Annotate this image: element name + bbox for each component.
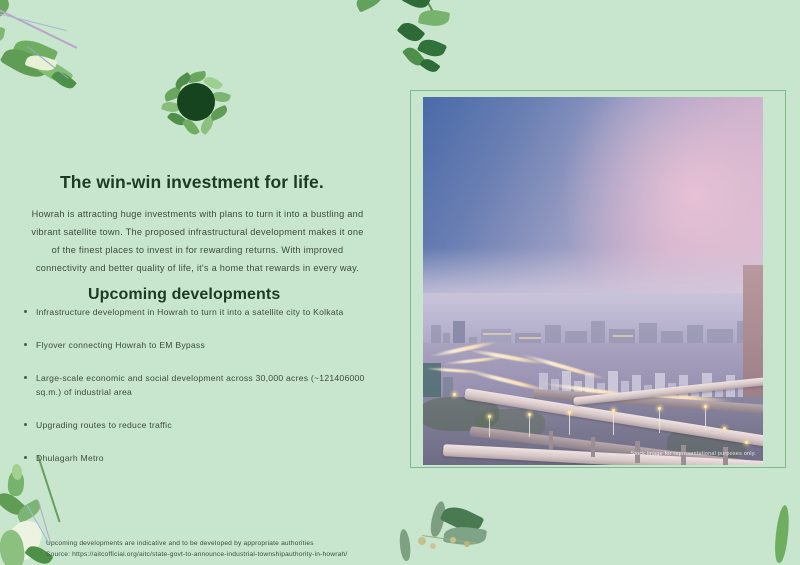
slide-canvas: The win-win investment for life. Howrah … xyxy=(0,0,800,565)
list-item-label: Infrastructure development in Howrah to … xyxy=(36,307,344,317)
bullet-icon xyxy=(24,456,27,459)
list-item: Infrastructure development in Howrah to … xyxy=(18,305,398,319)
list-item-label: Large-scale economic and social developm… xyxy=(36,373,365,397)
photo-frame: Stock image for representational purpose… xyxy=(410,90,786,468)
upcoming-developments-list: Infrastructure development in Howrah to … xyxy=(18,305,398,484)
footer-disclaimer: Upcoming developments are indicative and… xyxy=(46,538,526,549)
footer-notes: Upcoming developments are indicative and… xyxy=(46,538,526,560)
bullet-icon xyxy=(24,423,27,426)
decor-leaf-bottom-right xyxy=(770,505,800,565)
intro-paragraph: Howrah is attracting huge investments wi… xyxy=(30,205,365,277)
footer-source[interactable]: Source: https://aitcofficial.org/aitc/st… xyxy=(46,549,526,560)
list-item: Large-scale economic and social developm… xyxy=(18,371,386,399)
list-item: Upgrading routes to reduce traffic xyxy=(18,418,398,432)
bullet-icon xyxy=(24,376,27,379)
list-item: Flyover connecting Howrah to EM Bypass xyxy=(18,338,398,352)
text-column: The win-win investment for life. Howrah … xyxy=(0,0,400,565)
list-item-label: Flyover connecting Howrah to EM Bypass xyxy=(36,340,205,350)
list-item: Dhulagarh Metro xyxy=(18,451,398,465)
page-title: The win-win investment for life. xyxy=(60,172,380,193)
city-flyover-photo: Stock image for representational purpose… xyxy=(423,97,763,465)
list-item-label: Upgrading routes to reduce traffic xyxy=(36,420,172,430)
bullet-icon xyxy=(24,343,27,346)
bullet-icon xyxy=(24,310,27,313)
list-item-label: Dhulagarh Metro xyxy=(36,453,104,463)
photo-caption: Stock image for representational purpose… xyxy=(630,451,756,457)
section-heading: Upcoming developments xyxy=(88,286,388,304)
